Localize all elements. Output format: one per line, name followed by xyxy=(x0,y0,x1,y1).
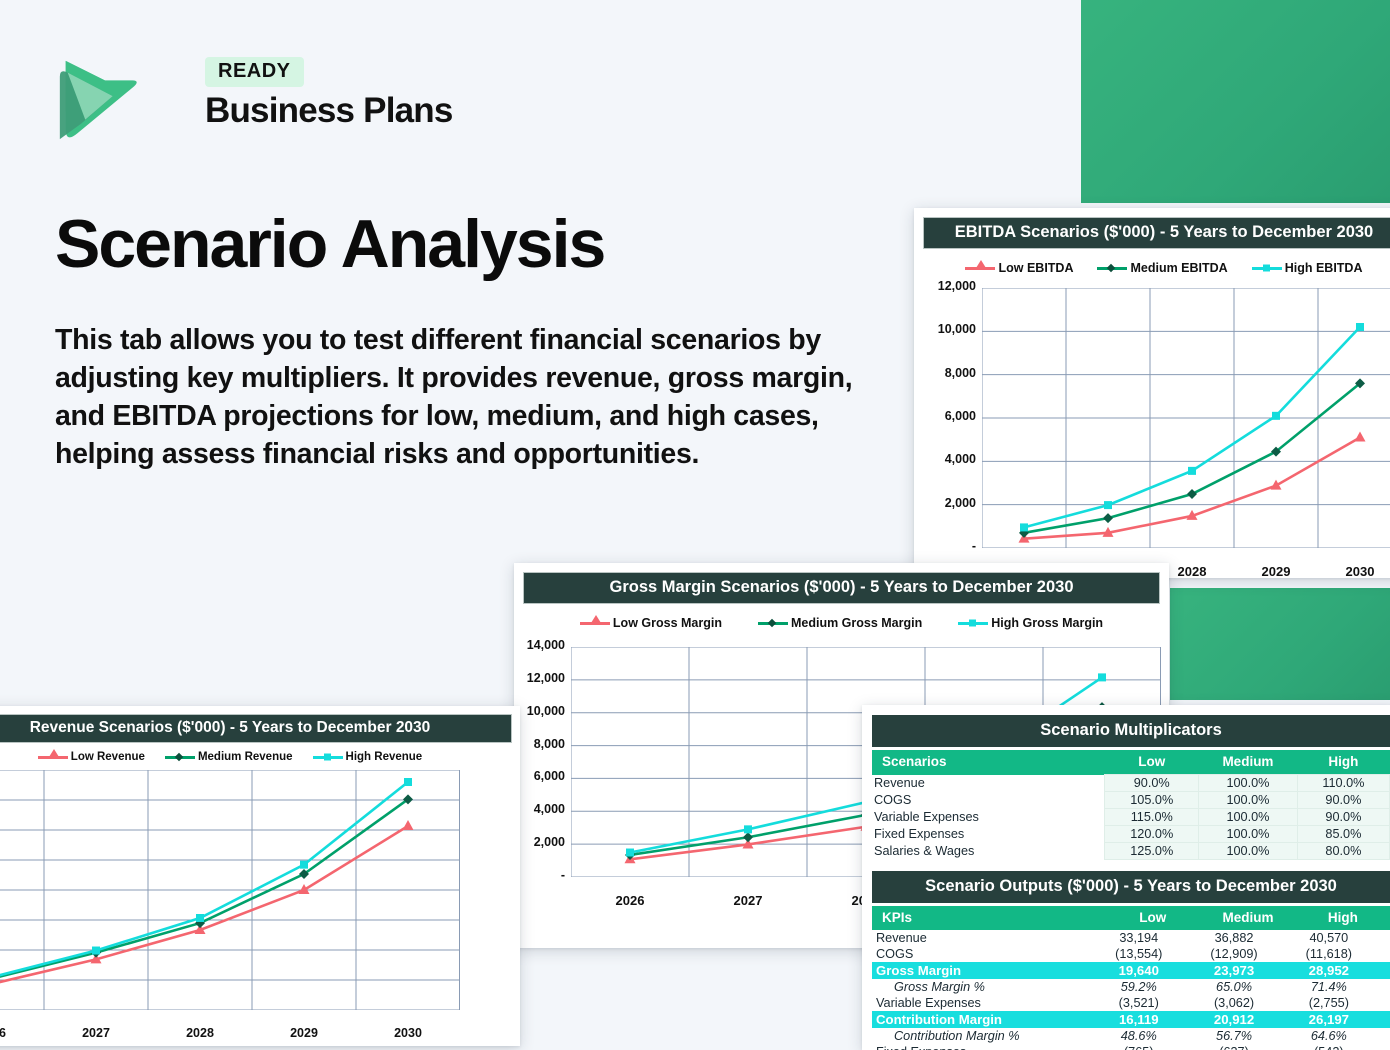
cell-high: 90.0% xyxy=(1297,809,1389,826)
legend-item-high-ebitda: High EBITDA xyxy=(1252,261,1363,275)
x-axis-tick: 2027 xyxy=(44,1026,148,1040)
cell-high: (11,618) xyxy=(1296,946,1390,962)
cell-medium: (12,909) xyxy=(1200,946,1295,962)
col-low: Low xyxy=(1105,906,1200,930)
table-row: COGS(13,554)(12,909)(11,618) xyxy=(872,946,1390,962)
legend-swatch-medium-icon xyxy=(165,756,195,759)
legend-item-medium-ebitda: Medium EBITDA xyxy=(1097,261,1227,275)
revenue-legend: Low Revenue Medium Revenue High Revenue xyxy=(0,751,520,763)
y-axis-tick: 10,000 xyxy=(920,322,976,336)
decorative-green-block-top xyxy=(1081,0,1390,203)
page-description: This tab allows you to test different fi… xyxy=(55,322,855,474)
cell-low: 33,194 xyxy=(1105,930,1200,946)
table-row: Variable Expenses(3,521)(3,062)(2,755) xyxy=(872,995,1390,1011)
legend-label: High EBITDA xyxy=(1285,261,1363,275)
brand-logo: READY Business Plans xyxy=(55,55,475,155)
col-high: High xyxy=(1296,906,1390,930)
cell-low: (3,521) xyxy=(1105,995,1200,1011)
col-scenarios: Scenarios xyxy=(872,750,1105,775)
decorative-green-block-middle xyxy=(1170,588,1390,700)
play-triangle-logo-icon xyxy=(55,55,141,145)
cell-low: (765) xyxy=(1105,1044,1200,1050)
cell-high: 26,197 xyxy=(1296,1011,1390,1028)
cell-low: 59.2% xyxy=(1105,979,1200,995)
table-row: Gross Margin19,64023,97328,952 xyxy=(872,962,1390,979)
x-axis-tick: 2028 xyxy=(148,1026,252,1040)
legend-label: Medium EBITDA xyxy=(1130,261,1227,275)
ready-badge: READY xyxy=(205,57,304,87)
table-header-row: KPIs Low Medium High xyxy=(872,906,1390,930)
table-row: Contribution Margin %48.6%56.7%64.6% xyxy=(872,1028,1390,1044)
cell-high: 71.4% xyxy=(1296,979,1390,995)
outputs-title: Scenario Outputs ($'000) - 5 Years to De… xyxy=(872,871,1390,903)
col-kpis: KPIs xyxy=(872,906,1105,930)
row-label: Contribution Margin xyxy=(872,1011,1105,1028)
legend-swatch-high-icon xyxy=(1252,267,1282,270)
gross-margin-legend: Low Gross Margin Medium Gross Margin Hig… xyxy=(514,616,1169,630)
cell-low: (13,554) xyxy=(1105,946,1200,962)
cell-low: 125.0% xyxy=(1105,843,1199,860)
y-axis-tick: 6,000 xyxy=(514,769,565,783)
cell-high: 28,952 xyxy=(1296,962,1390,979)
cell-high: 40,570 xyxy=(1296,930,1390,946)
col-high: High xyxy=(1297,750,1389,775)
cell-medium: 65.0% xyxy=(1200,979,1295,995)
revenue-plot-area xyxy=(0,770,460,1010)
legend-swatch-low-icon xyxy=(580,622,610,625)
row-label: COGS xyxy=(872,946,1105,962)
row-label: Salaries & Wages xyxy=(872,843,1105,860)
cell-high: (2,755) xyxy=(1296,995,1390,1011)
cell-low: 19,640 xyxy=(1105,962,1200,979)
legend-swatch-high-icon xyxy=(313,756,343,759)
y-axis-tick: 14,000 xyxy=(514,638,565,652)
cell-low: 90.0% xyxy=(1105,775,1199,792)
legend-label: Medium Revenue xyxy=(198,751,293,763)
cell-medium: 100.0% xyxy=(1199,843,1298,860)
legend-item-low-gross-margin: Low Gross Margin xyxy=(580,616,722,630)
x-axis-tick: 2030 xyxy=(1318,564,1390,578)
col-medium: Medium xyxy=(1199,750,1298,775)
legend-label: Medium Gross Margin xyxy=(791,616,922,630)
x-axis-tick: 2026 xyxy=(0,1026,44,1040)
cell-high: 90.0% xyxy=(1297,792,1389,809)
col-medium: Medium xyxy=(1200,906,1295,930)
table-row: Revenue33,19436,88240,570 xyxy=(872,930,1390,946)
legend-item-high-revenue: High Revenue xyxy=(313,751,423,763)
legend-item-medium-revenue: Medium Revenue xyxy=(165,751,293,763)
revenue-chart-card: Revenue Scenarios ($'000) - 5 Years to D… xyxy=(0,706,520,1046)
y-axis-tick: 4,000 xyxy=(920,452,976,466)
cell-high: 85.0% xyxy=(1297,826,1389,843)
col-low: Low xyxy=(1105,750,1199,775)
y-axis-tick: 2,000 xyxy=(920,496,976,510)
row-label: Fixed Expenses xyxy=(872,1044,1105,1050)
cell-medium: 23,973 xyxy=(1200,962,1295,979)
row-label: Revenue xyxy=(872,930,1105,946)
cell-low: 120.0% xyxy=(1105,826,1199,843)
y-axis-tick: 10,000 xyxy=(514,704,565,718)
row-label: Fixed Expenses xyxy=(872,826,1105,843)
y-axis-tick: 12,000 xyxy=(514,671,565,685)
y-axis-tick: 4,000 xyxy=(514,802,565,816)
cell-medium: 100.0% xyxy=(1199,775,1298,792)
legend-item-low-revenue: Low Revenue xyxy=(38,751,145,763)
ebitda-chart-card: EBITDA Scenarios ($'000) - 5 Years to De… xyxy=(914,208,1390,578)
cell-high: 110.0% xyxy=(1297,775,1389,792)
cell-medium: 20,912 xyxy=(1200,1011,1295,1028)
row-label: COGS xyxy=(872,792,1105,809)
x-axis-tick: 2026 xyxy=(571,893,689,908)
cell-low: 105.0% xyxy=(1105,792,1199,809)
legend-swatch-low-icon xyxy=(38,756,68,759)
row-label: Contribution Margin % xyxy=(872,1028,1105,1044)
legend-label: Low Gross Margin xyxy=(613,616,722,630)
scenario-multiplicators-table: Scenarios Low Medium High Revenue90.0%10… xyxy=(872,750,1390,860)
scenario-tables-card: Scenario Multiplicators Scenarios Low Me… xyxy=(862,705,1390,1050)
cell-high: (542) xyxy=(1296,1044,1390,1050)
table-row: Revenue90.0%100.0%110.0% xyxy=(872,775,1390,792)
x-axis-tick: 2029 xyxy=(1234,564,1318,578)
legend-label: High Revenue xyxy=(346,751,423,763)
table-row: Fixed Expenses(765)(637)(542) xyxy=(872,1044,1390,1050)
legend-item-medium-gross-margin: Medium Gross Margin xyxy=(758,616,922,630)
row-label: Gross Margin xyxy=(872,962,1105,979)
row-label: Gross Margin % xyxy=(872,979,1105,995)
scenario-outputs-table: KPIs Low Medium High Revenue33,19436,882… xyxy=(872,906,1390,1050)
table-row: COGS105.0%100.0%90.0% xyxy=(872,792,1390,809)
ebitda-plot-area xyxy=(982,288,1390,548)
cell-low: 115.0% xyxy=(1105,809,1199,826)
row-label: Variable Expenses xyxy=(872,809,1105,826)
slide-canvas: READY Business Plans Scenario Analysis T… xyxy=(0,0,1390,1043)
cell-medium: (637) xyxy=(1200,1044,1295,1050)
page-title: Scenario Analysis xyxy=(55,210,885,278)
legend-label: High Gross Margin xyxy=(991,616,1103,630)
cell-medium: 100.0% xyxy=(1199,792,1298,809)
brand-name: Business Plans xyxy=(205,93,453,130)
cell-medium: 36,882 xyxy=(1200,930,1295,946)
legend-swatch-medium-icon xyxy=(758,622,788,625)
table-row: Fixed Expenses120.0%100.0%85.0% xyxy=(872,826,1390,843)
x-axis-tick: 2027 xyxy=(689,893,807,908)
legend-swatch-low-icon xyxy=(965,267,995,270)
y-axis-tick: 12,000 xyxy=(920,279,976,293)
table-header-row: Scenarios Low Medium High xyxy=(872,750,1390,775)
legend-label: Low Revenue xyxy=(71,751,145,763)
legend-label: Low EBITDA xyxy=(998,261,1073,275)
y-axis-tick: - xyxy=(920,539,976,553)
y-axis-tick: 2,000 xyxy=(514,835,565,849)
table-row: Salaries & Wages125.0%100.0%80.0% xyxy=(872,843,1390,860)
table-row: Variable Expenses115.0%100.0%90.0% xyxy=(872,809,1390,826)
x-axis-tick: 2030 xyxy=(356,1026,460,1040)
cell-medium: 56.7% xyxy=(1200,1028,1295,1044)
cell-medium: 100.0% xyxy=(1199,826,1298,843)
cell-medium: 100.0% xyxy=(1199,809,1298,826)
y-axis-tick: - xyxy=(514,868,565,882)
cell-high: 64.6% xyxy=(1296,1028,1390,1044)
table-row: Gross Margin %59.2%65.0%71.4% xyxy=(872,979,1390,995)
cell-low: 16,119 xyxy=(1105,1011,1200,1028)
table-row: Contribution Margin16,11920,91226,197 xyxy=(872,1011,1390,1028)
y-axis-tick: 6,000 xyxy=(920,409,976,423)
cell-high: 80.0% xyxy=(1297,843,1389,860)
y-axis-tick: 8,000 xyxy=(920,366,976,380)
legend-item-low-ebitda: Low EBITDA xyxy=(965,261,1073,275)
gross-margin-chart-title: Gross Margin Scenarios ($'000) - 5 Years… xyxy=(523,572,1160,604)
y-axis-tick: 8,000 xyxy=(514,737,565,751)
revenue-chart-title: Revenue Scenarios ($'000) - 5 Years to D… xyxy=(0,714,512,743)
cell-medium: (3,062) xyxy=(1200,995,1295,1011)
row-label: Revenue xyxy=(872,775,1105,792)
row-label: Variable Expenses xyxy=(872,995,1105,1011)
ebitda-legend: Low EBITDA Medium EBITDA High EBITDA xyxy=(914,261,1390,275)
multiplicators-title: Scenario Multiplicators xyxy=(872,715,1390,747)
cell-low: 48.6% xyxy=(1105,1028,1200,1044)
legend-item-high-gross-margin: High Gross Margin xyxy=(958,616,1103,630)
ebitda-chart-title: EBITDA Scenarios ($'000) - 5 Years to De… xyxy=(923,217,1390,249)
legend-swatch-medium-icon xyxy=(1097,267,1127,270)
legend-swatch-high-icon xyxy=(958,622,988,625)
x-axis-tick: 2029 xyxy=(252,1026,356,1040)
